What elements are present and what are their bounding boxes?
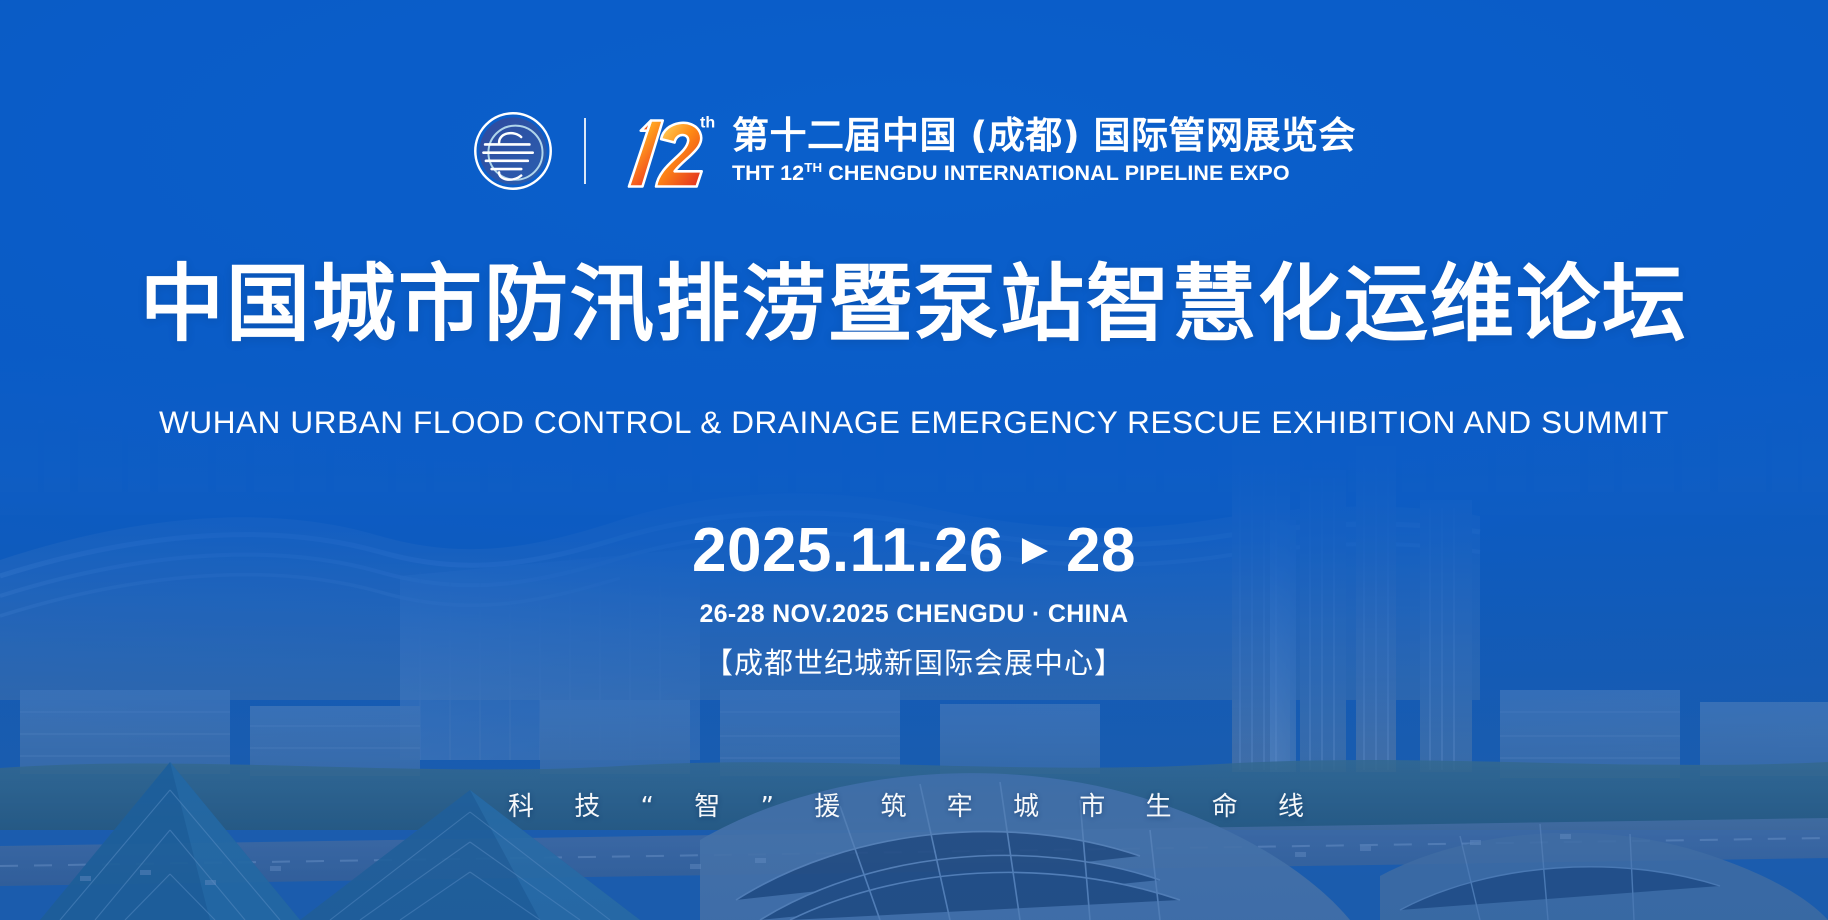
masthead-title-cn: 第十二届中国 (成都) 国际管网展览会: [732, 115, 1356, 156]
event-date-subline: 26-28 NOV.2025 CHENGDU · CHINA: [0, 600, 1828, 629]
event-date-end: 28: [1066, 520, 1136, 582]
event-banner: th 第十二届中国 (成都) 国际管网展览会 THT 12TH CHENGDU …: [0, 0, 1828, 920]
masthead-title-en-prefix: THT 12: [732, 161, 804, 185]
banner-content: th 第十二届中国 (成都) 国际管网展览会 THT 12TH CHENGDU …: [0, 0, 1828, 920]
event-date-row: 2025.11.26 ▶ 28: [0, 520, 1828, 582]
masthead-title-en-rest: CHENGDU INTERNATIONAL PIPELINE EXPO: [822, 161, 1290, 185]
event-venue: 【成都世纪城新国际会展中心】: [0, 640, 1828, 682]
masthead: th 第十二届中国 (成都) 国际管网展览会 THT 12TH CHENGDU …: [0, 108, 1828, 194]
footer-slogan: 科 技 “ 智 ” 援 筑 牢 城 市 生 命 线: [0, 786, 1828, 823]
masthead-title-en-sup: TH: [804, 160, 822, 175]
hero-title-en: WUHAN URBAN FLOOD CONTROL & DRAINAGE EME…: [0, 404, 1828, 441]
svg-text:th: th: [700, 113, 715, 131]
hero-title-cn: 中国城市防汛排涝暨泵站智慧化运维论坛: [0, 258, 1828, 350]
right-triangle-icon: ▶: [1022, 532, 1048, 566]
twelfth-edition-ordinal-icon: th: [612, 108, 722, 194]
masthead-title-en: THT 12TH CHENGDU INTERNATIONAL PIPELINE …: [732, 160, 1356, 187]
masthead-text: 第十二届中国 (成都) 国际管网展览会 THT 12TH CHENGDU INT…: [732, 115, 1356, 186]
vertical-divider-icon: [584, 118, 586, 184]
event-date-start: 2025.11.26: [692, 520, 1004, 582]
pipeline-ring-emblem-icon: [472, 110, 554, 192]
